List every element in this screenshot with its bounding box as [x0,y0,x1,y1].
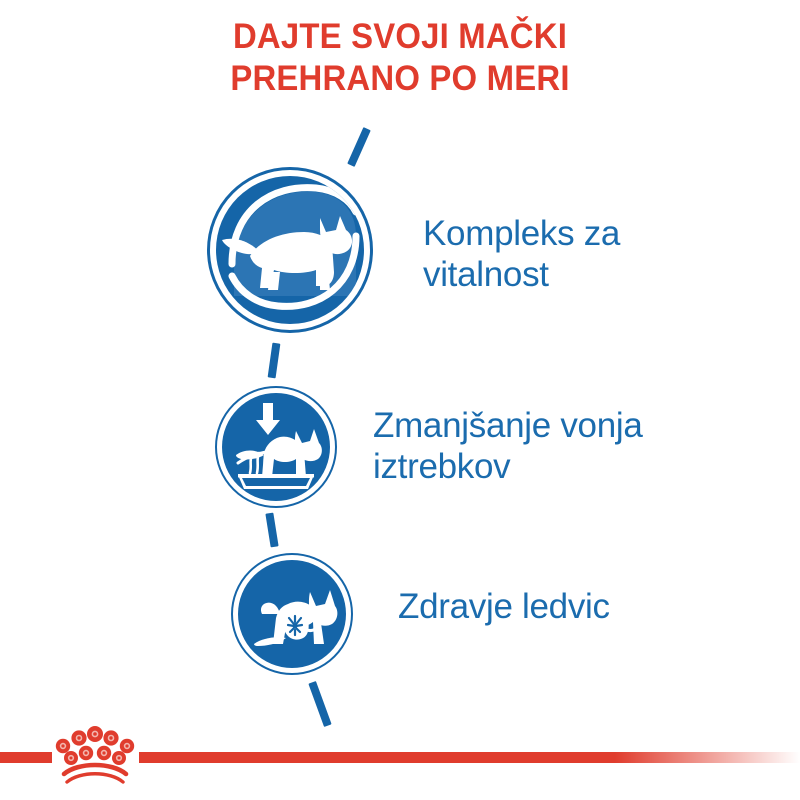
footer-rule-left [0,752,52,763]
feature-3-label: Zdravje ledvic [398,586,738,627]
promo-card: DAJTE SVOJI MAČKI PREHRANO PO MERI [0,0,800,800]
headline-line-2: PREHRANO PO MERI [24,58,776,100]
feature-1-label-line-1: Kompleks za [423,214,620,253]
headline-line-1: DAJTE SVOJI MAČKI [24,16,776,58]
footer-rule-right [139,752,800,763]
page-title: DAJTE SVOJI MAČKI PREHRANO PO MERI [24,16,776,100]
cat-kidney-health-icon [238,560,346,668]
cat-litter-box-odor-icon [222,393,330,501]
cat-vitality-icon [216,176,364,324]
dash-between-second-and-third-icon [265,513,278,548]
dash-above-first-icon [347,127,371,167]
royal-canin-crown-logo [52,722,138,784]
feature-2-label-line-1: Zmanjšanje vonja [373,406,643,445]
dash-below-third-icon [308,681,331,727]
feature-2-label: Zmanjšanje vonja iztrebkov [373,405,773,487]
feature-3-label-line-1: Zdravje ledvic [398,587,610,626]
feature-1-label: Kompleks za vitalnost [423,213,753,295]
feature-2-label-line-2: iztrebkov [373,447,510,486]
dash-between-first-and-second-icon [268,343,281,379]
feature-1-label-line-2: vitalnost [423,255,549,294]
